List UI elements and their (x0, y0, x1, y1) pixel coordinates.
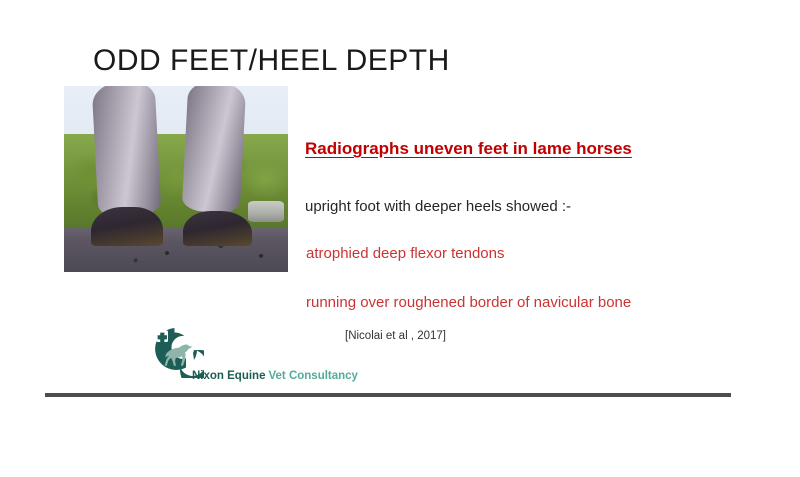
body-line-navicular-bone: running over roughened border of navicul… (306, 294, 631, 311)
body-line-atrophied-tendons: atrophied deep flexor tendons (306, 245, 504, 262)
logo-text-secondary: Vet Consultancy (268, 370, 357, 382)
horse-left-hoof (91, 207, 163, 246)
logo-wordmark: Nixon EquineVet Consultancy (192, 371, 358, 383)
bottom-divider-rule (45, 393, 731, 397)
citation-reference: [Nicolai et al , 2017] (345, 330, 446, 342)
background-object (248, 201, 284, 221)
horse-hooves-photo (64, 86, 288, 272)
nixon-equine-logo: Nixon EquineVet Consultancy (146, 320, 318, 386)
body-line-upright-foot: upright foot with deeper heels showed :- (305, 198, 571, 215)
horse-right-hoof (183, 211, 252, 246)
logo-text-primary: Nixon Equine (192, 370, 265, 382)
slide-title: ODD FEET/HEEL DEPTH (93, 44, 450, 78)
red-underlined-heading: Radiographs uneven feet in lame horses (305, 139, 632, 159)
horse-left-leg (92, 86, 162, 218)
horse-right-leg (182, 86, 247, 214)
